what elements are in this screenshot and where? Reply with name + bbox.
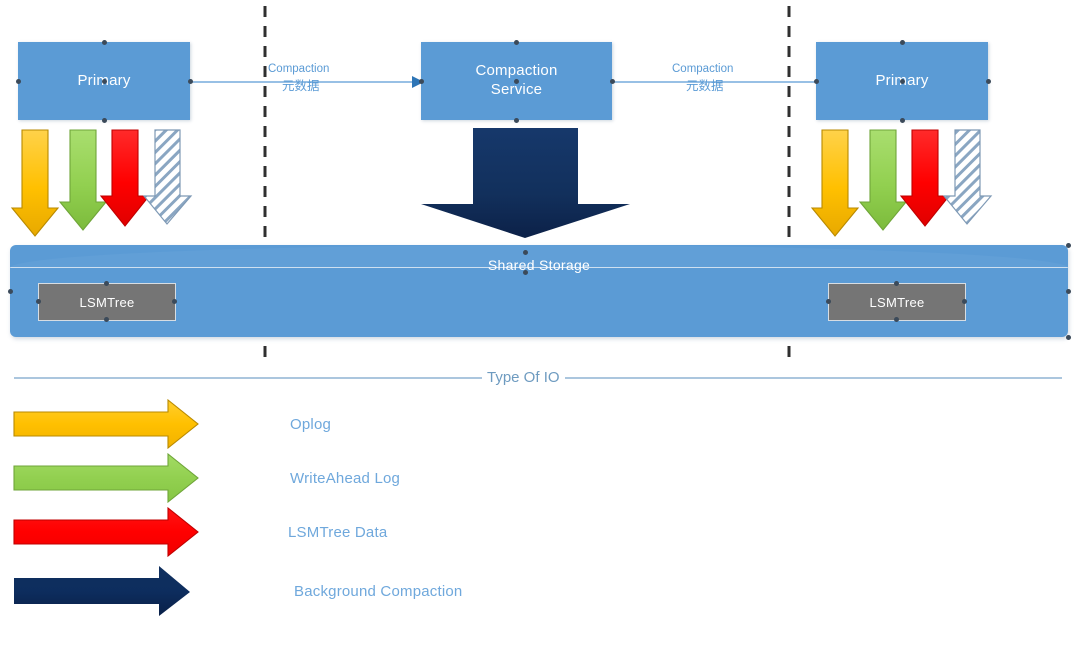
legend-arrow-background-compaction <box>14 566 190 616</box>
io-arrow-oplog-right <box>812 130 858 236</box>
connector-label-left: Compaction 元数据 <box>268 62 378 94</box>
legend-divider-label: Type Of IO <box>482 369 565 386</box>
node-primary-left[interactable]: Primary <box>18 42 190 120</box>
io-arrow-hatched-left <box>144 130 191 224</box>
lsmtree-box-left[interactable]: LSMTree <box>38 283 176 321</box>
io-arrow-lsmtree-left <box>101 130 149 226</box>
connector-left-line1: Compaction <box>268 62 378 78</box>
background-compaction-arrow <box>421 128 630 238</box>
legend-label-lsmtree-data: LSMTree Data <box>288 524 387 541</box>
compaction-service-label-line1: Compaction <box>475 62 557 81</box>
connector-right-line2: 元数据 <box>672 78 782 95</box>
lsmtree-box-right[interactable]: LSMTree <box>828 283 966 321</box>
node-compaction-service[interactable]: Compaction Service <box>421 42 612 120</box>
legend-label-writeahead-log: WriteAhead Log <box>290 470 400 487</box>
legend-arrow-lsmtree <box>14 508 198 556</box>
diagram-canvas: Shared Storage LSMTree LSMTree Primary C… <box>0 0 1080 645</box>
io-arrow-writeahead-right <box>860 130 906 230</box>
legend-label-background-compaction: Background Compaction <box>294 583 462 600</box>
connector-label-right: Compaction 元数据 <box>672 62 782 94</box>
io-arrow-oplog-left <box>12 130 58 236</box>
legend-arrow-oplog <box>14 400 198 448</box>
connector-right-line1: Compaction <box>672 62 782 78</box>
node-primary-right[interactable]: Primary <box>816 42 988 120</box>
shared-storage-label: Shared Storage <box>10 257 1068 273</box>
compaction-service-label-line2: Service <box>491 81 542 100</box>
primary-right-label: Primary <box>875 72 928 91</box>
io-arrow-hatched-right <box>944 130 991 224</box>
legend-label-oplog: Oplog <box>290 416 331 433</box>
lsmtree-right-label: LSMTree <box>869 295 924 310</box>
legend-arrow-writeahead <box>14 454 198 502</box>
primary-left-label: Primary <box>77 72 130 91</box>
connector-left-line2: 元数据 <box>268 78 378 95</box>
io-arrow-writeahead-left <box>60 130 106 230</box>
lsmtree-left-label: LSMTree <box>79 295 134 310</box>
io-arrow-lsmtree-right <box>901 130 949 226</box>
